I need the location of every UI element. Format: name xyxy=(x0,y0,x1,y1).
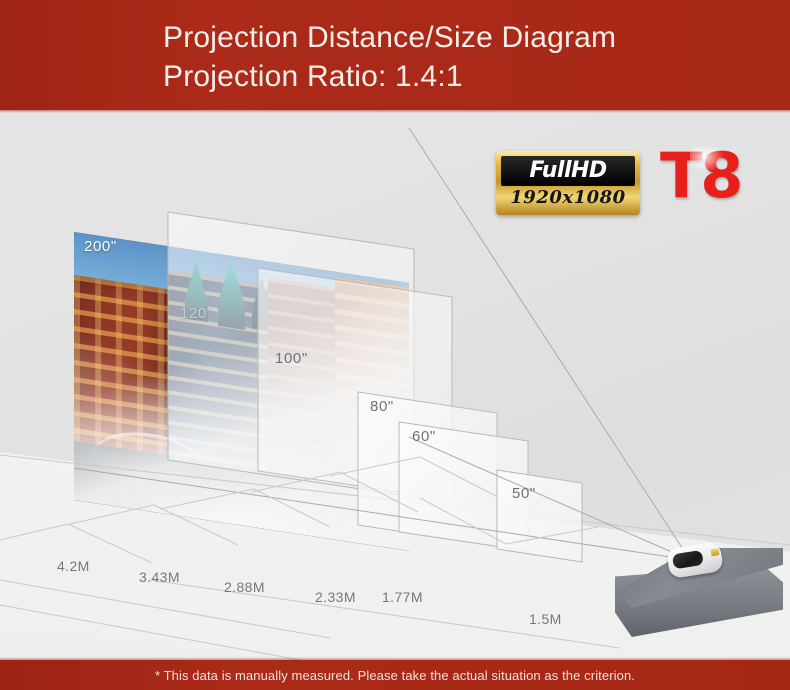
full-hd-badge: FullHD 1920x1080 xyxy=(496,151,640,215)
projection-diagram-page: Projection Distance/Size Diagram Project… xyxy=(0,0,790,690)
resolution-label: 1920x1080 xyxy=(510,189,625,207)
full-hd-badge-hd-text: HD xyxy=(571,158,607,183)
distance-label-3-43m: 3.43M xyxy=(139,569,180,585)
footer-banner: * This data is manually measured. Please… xyxy=(0,660,790,690)
screen-200-inch xyxy=(74,232,409,551)
size-label-80: 80" xyxy=(370,398,394,415)
distance-label-1-77m: 1.77M xyxy=(382,589,423,605)
header-banner: Projection Distance/Size Diagram Project… xyxy=(0,0,790,110)
size-label-60: 60" xyxy=(412,428,436,445)
size-label-50: 50" xyxy=(512,485,536,502)
projected-image xyxy=(74,232,409,551)
full-hd-badge-top: FullHD xyxy=(501,156,635,186)
size-label-200: 200" xyxy=(84,238,117,255)
distance-label-2-88m: 2.88M xyxy=(224,579,265,595)
distance-label-4-2m: 4.2M xyxy=(57,558,90,574)
footer-disclaimer: * This data is manually measured. Please… xyxy=(155,668,635,683)
distance-label-2-33m: 2.33M xyxy=(315,589,356,605)
projector-lens-icon xyxy=(672,550,704,570)
projector-accent xyxy=(711,548,720,556)
image-fade-overlay-secondary xyxy=(74,232,409,551)
t8-logo: T8 xyxy=(660,145,741,207)
size-label-100: 100" xyxy=(275,350,308,367)
full-hd-badge-bottom: 1920x1080 xyxy=(501,187,635,210)
t8-logo-label: T8 xyxy=(660,139,741,212)
size-label-120: 120" xyxy=(180,305,213,322)
distance-label-1-5m: 1.5M xyxy=(529,611,562,627)
projection-ratio-label: Projection Ratio: 1.4:1 xyxy=(163,59,463,95)
page-title: Projection Distance/Size Diagram xyxy=(163,20,616,56)
full-hd-badge-full-text: Full xyxy=(529,158,571,183)
